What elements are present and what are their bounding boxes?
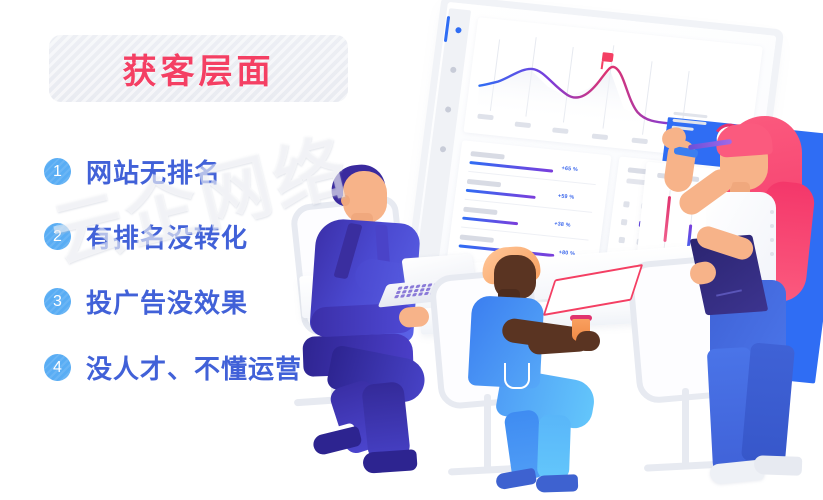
- progress-value: +59 %: [558, 193, 575, 201]
- list-item[interactable]: 2 有排名没转化: [44, 217, 248, 255]
- list-number-badge: 2: [44, 223, 71, 250]
- hand-resting: [398, 306, 429, 328]
- list-item[interactable]: 3 投广告没效果: [44, 282, 248, 320]
- heat-cell: [623, 201, 630, 208]
- leg-right: [741, 342, 795, 463]
- flag-marker-peak-icon: [602, 52, 614, 62]
- list-item[interactable]: 4 没人才、不懂运营: [44, 348, 302, 386]
- shoe-right: [754, 455, 803, 476]
- apron-tie: [504, 363, 530, 389]
- person-with-coffee: [450, 245, 630, 495]
- nav-dot-icon-1[interactable]: [455, 27, 462, 34]
- nav-dot-icon-2[interactable]: [450, 67, 457, 74]
- list-item-label: 有排名没转化: [86, 218, 248, 255]
- list-number-badge: 1: [44, 158, 71, 185]
- list-item-label: 没人才、不懂运营: [86, 349, 302, 386]
- shin-right: [537, 414, 571, 479]
- nav-dot-icon-3[interactable]: [445, 106, 452, 113]
- button-icon: [770, 210, 774, 214]
- list-item[interactable]: 1 网站无排名: [44, 152, 221, 190]
- list-number-badge: 3: [44, 288, 71, 315]
- button-icon: [770, 252, 774, 256]
- button-icon: [770, 224, 774, 228]
- shoe-left: [495, 468, 537, 491]
- progress-value: +38 %: [554, 221, 571, 229]
- heat-cell: [618, 237, 625, 244]
- title-badge: 获客层面: [49, 35, 348, 102]
- list-item-label: 投广告没效果: [86, 283, 248, 320]
- page-title: 获客层面: [123, 44, 275, 93]
- progress-value: +65 %: [561, 166, 578, 174]
- shoe-right: [536, 474, 579, 492]
- list-number-badge: 4: [44, 354, 71, 381]
- bar-1: [663, 196, 671, 242]
- button-icon: [770, 238, 774, 242]
- list-item-label: 网站无排名: [86, 153, 221, 190]
- paper-document: [543, 264, 644, 316]
- illustration-canvas: +65 % +59 % +38 %: [0, 0, 823, 500]
- heat-cell: [621, 219, 628, 226]
- ear: [341, 195, 350, 206]
- person-woman-presenter: [672, 112, 823, 500]
- nav-dot-icon-4[interactable]: [440, 146, 447, 153]
- shoe-right: [362, 449, 417, 474]
- hand-holding-cup: [576, 331, 600, 351]
